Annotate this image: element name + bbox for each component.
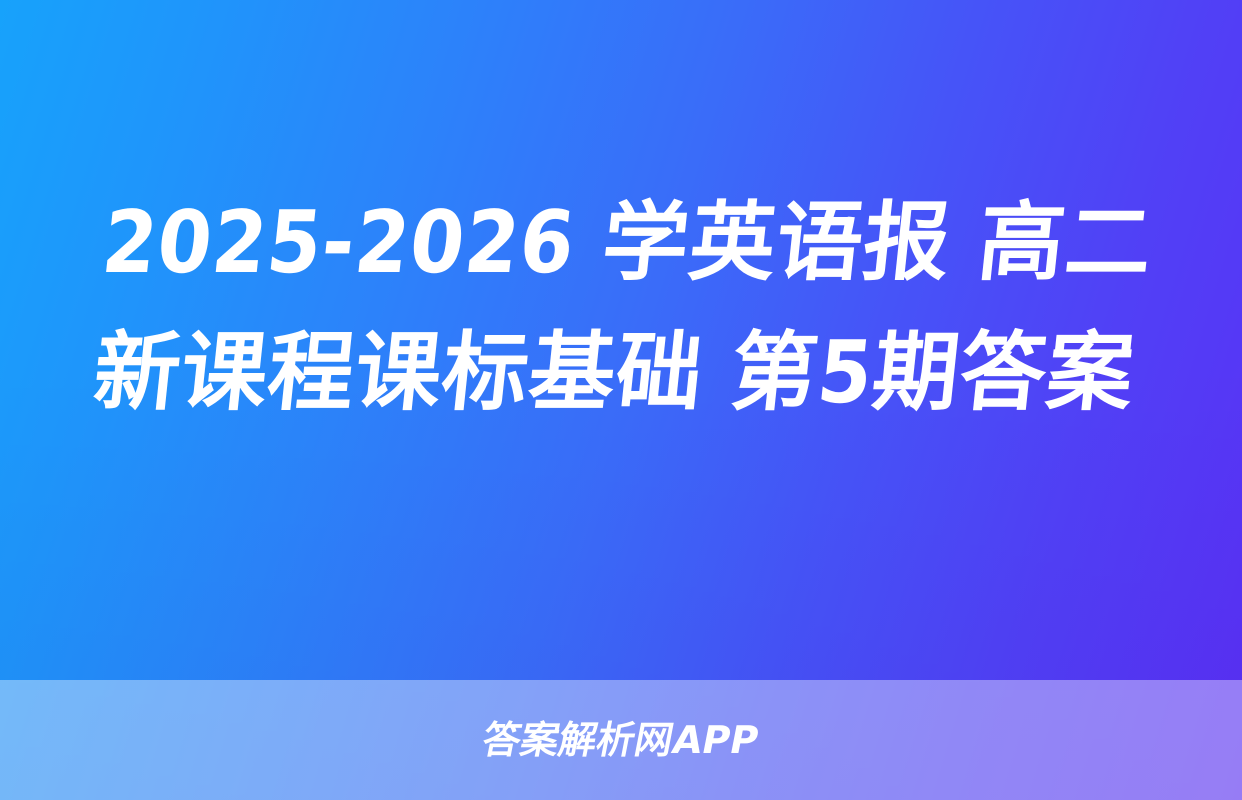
poster-canvas: 2025-2026 学英语报 高二 新课程课标基础 第5期答案 答案解析网APP	[0, 0, 1242, 800]
poster-title-block: 2025-2026 学英语报 高二 新课程课标基础 第5期答案	[0, 178, 1242, 438]
app-brand-label: 答案解析网APP	[480, 721, 763, 759]
footer-brand-bar: 答案解析网APP	[0, 680, 1242, 800]
page-title: 2025-2026 学英语报 高二 新课程课标基础 第5期答案	[26, 178, 1215, 438]
